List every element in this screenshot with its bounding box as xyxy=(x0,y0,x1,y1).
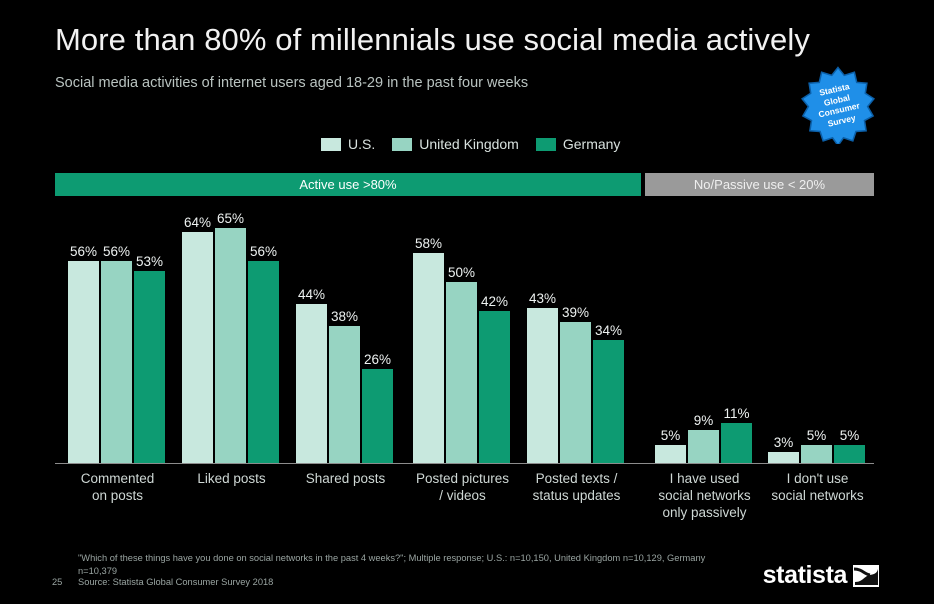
bar[interactable]: 5% xyxy=(655,445,686,463)
bar[interactable]: 56% xyxy=(248,261,279,463)
bar-fill xyxy=(768,452,799,463)
bar-fill xyxy=(801,445,832,463)
bar[interactable]: 34% xyxy=(593,340,624,463)
bar-value-label: 5% xyxy=(807,428,827,443)
bar-fill xyxy=(362,369,393,463)
bar-value-label: 56% xyxy=(70,244,97,259)
bar-fill xyxy=(182,232,213,463)
bar[interactable]: 50% xyxy=(446,282,477,463)
bar-fill xyxy=(68,261,99,463)
bar-value-label: 44% xyxy=(298,287,325,302)
bar-value-label: 43% xyxy=(529,291,556,306)
bar-group: 5%9%11% xyxy=(655,210,754,463)
legend-label: Germany xyxy=(563,136,621,152)
bar-chart-plot: 56%56%53%64%65%56%44%38%26%58%50%42%43%3… xyxy=(55,210,874,463)
x-axis-label: Posted pictures/ videos xyxy=(399,470,526,504)
bar-value-label: 9% xyxy=(694,413,714,428)
bar-group-bars: 3%5%5% xyxy=(768,210,865,463)
bar[interactable]: 5% xyxy=(801,445,832,463)
legend-item-united-kingdom[interactable]: United Kingdom xyxy=(392,136,519,152)
bar-value-label: 34% xyxy=(595,323,622,338)
x-axis-label: I don't usesocial networks xyxy=(754,470,881,504)
bar-fill xyxy=(296,304,327,463)
bar[interactable]: 5% xyxy=(834,445,865,463)
bar-group: 56%56%53% xyxy=(68,210,167,463)
bar[interactable]: 56% xyxy=(101,261,132,463)
legend-label: United Kingdom xyxy=(419,136,519,152)
band-passive-use: No/Passive use < 20% xyxy=(645,173,874,196)
bar[interactable]: 11% xyxy=(721,423,752,463)
bar[interactable]: 64% xyxy=(182,232,213,463)
x-axis-label: Posted texts /status updates xyxy=(513,470,640,504)
bar-group: 58%50%42% xyxy=(413,210,512,463)
x-axis-label-line: Posted texts / xyxy=(513,470,640,487)
bar[interactable]: 65% xyxy=(215,228,246,463)
x-axis-label-line: on posts xyxy=(54,487,181,504)
s-curve-icon xyxy=(853,565,879,587)
footnote: "Which of these things have you done on … xyxy=(78,552,718,577)
x-axis-label: Liked posts xyxy=(168,470,295,487)
page-subtitle: Social media activities of internet user… xyxy=(55,75,528,91)
bar-value-label: 3% xyxy=(774,435,794,450)
chart-legend: U.S.United KingdomGermany xyxy=(321,136,629,152)
bar-fill xyxy=(655,445,686,463)
x-axis-label: Shared posts xyxy=(282,470,409,487)
starburst-icon xyxy=(799,66,877,144)
bar[interactable]: 58% xyxy=(413,253,444,463)
x-axis-label-line: I have used xyxy=(641,470,768,487)
bar-fill xyxy=(413,253,444,463)
bar-value-label: 5% xyxy=(661,428,681,443)
bar-value-label: 56% xyxy=(103,244,130,259)
source-line: Source: Statista Global Consumer Survey … xyxy=(78,577,273,587)
bar[interactable]: 3% xyxy=(768,452,799,463)
bar-value-label: 42% xyxy=(481,294,508,309)
bar-value-label: 53% xyxy=(136,254,163,269)
bar-fill xyxy=(248,261,279,463)
bar-fill xyxy=(688,430,719,463)
bar-fill xyxy=(721,423,752,463)
bar-fill xyxy=(134,271,165,463)
bar[interactable]: 26% xyxy=(362,369,393,463)
page-number: 25 xyxy=(52,577,62,587)
bar-value-label: 38% xyxy=(331,309,358,324)
bar-fill xyxy=(215,228,246,463)
bar-group: 43%39%34% xyxy=(527,210,626,463)
bar-group-bars: 43%39%34% xyxy=(527,210,624,463)
x-axis-label: I have usedsocial networksonly passively xyxy=(641,470,768,521)
bar-fill xyxy=(527,308,558,463)
bar-group-bars: 58%50%42% xyxy=(413,210,510,463)
bar-fill xyxy=(101,261,132,463)
x-axis-label: Commentedon posts xyxy=(54,470,181,504)
legend-swatch-icon xyxy=(392,138,412,151)
x-axis-labels: Commentedon postsLiked postsShared posts… xyxy=(55,470,874,530)
legend-swatch-icon xyxy=(536,138,556,151)
x-axis-label-line: I don't use xyxy=(754,470,881,487)
x-axis-label-line: Posted pictures xyxy=(399,470,526,487)
survey-badge: Statista Global Consumer Survey xyxy=(799,66,877,144)
x-axis-label-line: social networks xyxy=(641,487,768,504)
bar[interactable]: 42% xyxy=(479,311,510,463)
bar-group: 44%38%26% xyxy=(296,210,395,463)
statista-logo: statista xyxy=(763,561,879,590)
band-active-use: Active use >80% xyxy=(55,173,641,196)
bar[interactable]: 44% xyxy=(296,304,327,463)
page-title: More than 80% of millennials use social … xyxy=(55,22,810,58)
bar-value-label: 26% xyxy=(364,352,391,367)
bar-group: 3%5%5% xyxy=(768,210,867,463)
bar-fill xyxy=(834,445,865,463)
bar-group-bars: 44%38%26% xyxy=(296,210,393,463)
bar-value-label: 50% xyxy=(448,265,475,280)
bar-group-bars: 56%56%53% xyxy=(68,210,165,463)
x-axis-label-line: only passively xyxy=(641,504,768,521)
x-axis-label-line: / videos xyxy=(399,487,526,504)
bar[interactable]: 9% xyxy=(688,430,719,463)
logo-wordmark: statista xyxy=(763,561,847,590)
bar-fill xyxy=(560,322,591,463)
bar-value-label: 65% xyxy=(217,211,244,226)
bar-group-bars: 64%65%56% xyxy=(182,210,279,463)
bar-value-label: 11% xyxy=(723,406,749,421)
bar-group: 64%65%56% xyxy=(182,210,281,463)
bar-value-label: 5% xyxy=(840,428,860,443)
bar-value-label: 56% xyxy=(250,244,277,259)
x-axis-line xyxy=(55,463,874,464)
bar[interactable]: 38% xyxy=(329,326,360,463)
x-axis-label-line: Liked posts xyxy=(168,470,295,487)
bar[interactable]: 56% xyxy=(68,261,99,463)
legend-swatch-icon xyxy=(321,138,341,151)
bar-fill xyxy=(593,340,624,463)
statista-mark-icon xyxy=(853,565,879,587)
legend-item-germany[interactable]: Germany xyxy=(536,136,621,152)
bar[interactable]: 43% xyxy=(527,308,558,463)
legend-item-u-s[interactable]: U.S. xyxy=(321,136,375,152)
bar-fill xyxy=(329,326,360,463)
bar-value-label: 64% xyxy=(184,215,211,230)
legend-label: U.S. xyxy=(348,136,375,152)
x-axis-label-line: status updates xyxy=(513,487,640,504)
bar-fill xyxy=(479,311,510,463)
x-axis-label-line: Shared posts xyxy=(282,470,409,487)
slide-canvas: More than 80% of millennials use social … xyxy=(0,0,934,604)
x-axis-label-line: social networks xyxy=(754,487,881,504)
x-axis-label-line: Commented xyxy=(54,470,181,487)
bar[interactable]: 39% xyxy=(560,322,591,463)
bar[interactable]: 53% xyxy=(134,271,165,463)
bar-fill xyxy=(446,282,477,463)
bar-value-label: 58% xyxy=(415,236,442,251)
bar-group-bars: 5%9%11% xyxy=(655,210,752,463)
bar-value-label: 39% xyxy=(562,305,589,320)
